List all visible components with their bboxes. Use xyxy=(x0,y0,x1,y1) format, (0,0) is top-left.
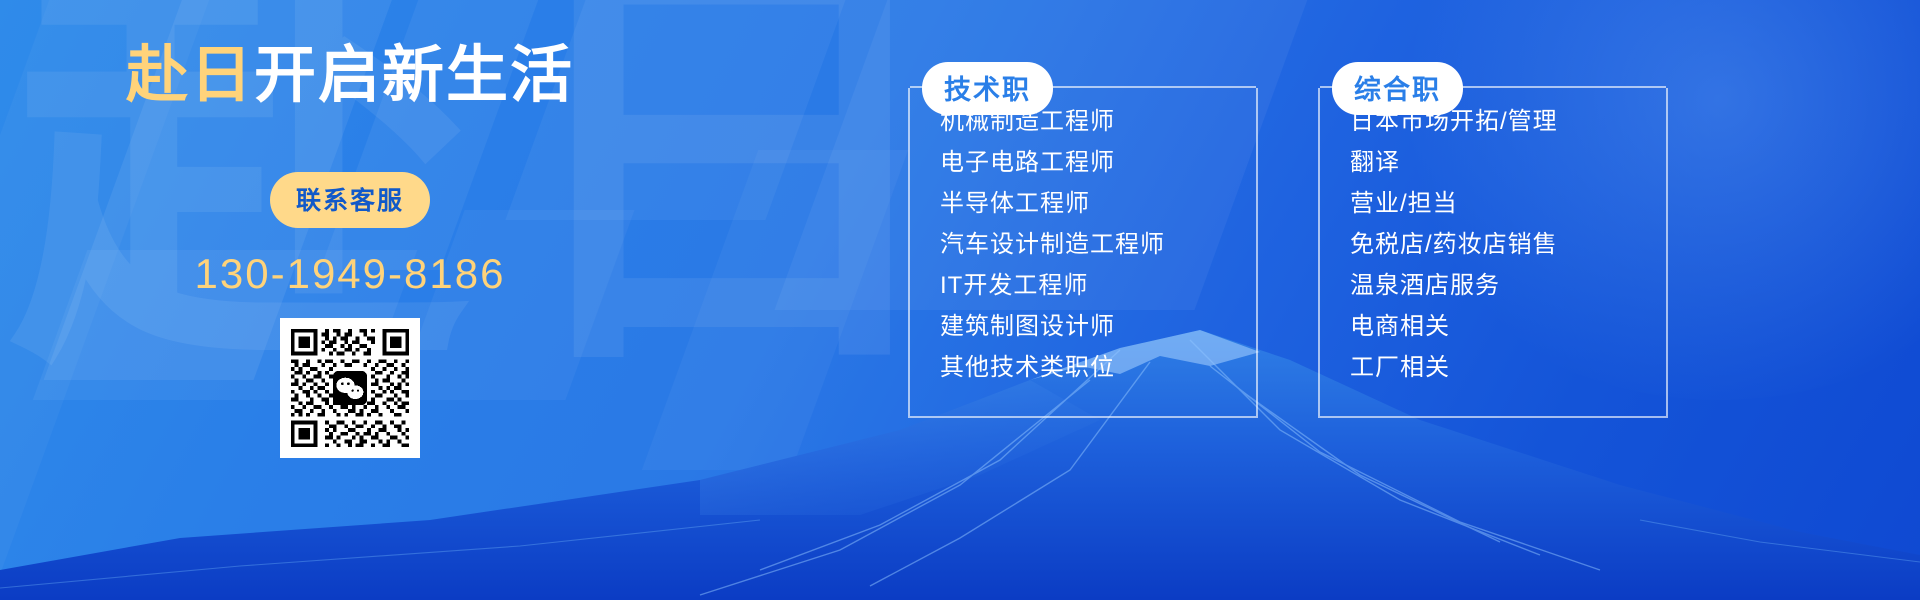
list-item[interactable]: 营业/担当 xyxy=(1350,192,1666,233)
list-item[interactable]: 半导体工程师 xyxy=(940,192,1256,233)
list-item[interactable]: 温泉酒店服务 xyxy=(1350,274,1666,315)
contact-support-button[interactable]: 联系客服 xyxy=(270,172,430,228)
job-list-general: 日本市场开拓/管理 翻译 营业/担当 免税店/药妆店销售 温泉酒店服务 电商相关… xyxy=(1320,88,1666,397)
list-item[interactable]: 其他技术类职位 xyxy=(940,356,1256,397)
list-item[interactable]: 机械制造工程师 xyxy=(940,110,1256,151)
qr-code-graphic xyxy=(287,325,413,451)
job-category-panel-general: 综合职 日本市场开拓/管理 翻译 营业/担当 免税店/药妆店销售 温泉酒店服务 … xyxy=(1318,88,1668,418)
list-item[interactable]: 电子电路工程师 xyxy=(940,151,1256,192)
list-item[interactable]: 建筑制图设计师 xyxy=(940,315,1256,356)
headline-main: 开启新生活 xyxy=(254,41,574,110)
list-item[interactable]: IT开发工程师 xyxy=(940,274,1256,315)
category-title-general: 综合职 xyxy=(1332,62,1463,115)
job-category-panel-technical: 技术职 机械制造工程师 电子电路工程师 半导体工程师 汽车设计制造工程师 IT开… xyxy=(908,88,1258,418)
list-item[interactable]: 免税店/药妆店销售 xyxy=(1350,233,1666,274)
list-item[interactable]: 翻译 xyxy=(1350,151,1666,192)
headline-accent: 赴日 xyxy=(126,41,254,110)
phone-number[interactable]: 130-1949-8186 xyxy=(0,250,700,298)
job-list-technical: 机械制造工程师 电子电路工程师 半导体工程师 汽车设计制造工程师 IT开发工程师… xyxy=(910,88,1256,397)
list-item[interactable]: 电商相关 xyxy=(1350,315,1666,356)
list-item[interactable]: 汽车设计制造工程师 xyxy=(940,233,1256,274)
category-title-technical: 技术职 xyxy=(922,62,1053,115)
promo-banner: 赴日 xyxy=(0,0,1920,600)
wechat-qr-code-icon[interactable] xyxy=(280,318,420,458)
list-item[interactable]: 日本市场开拓/管理 xyxy=(1350,110,1666,151)
list-item[interactable]: 工厂相关 xyxy=(1350,356,1666,397)
page-title: 赴日开启新生活 xyxy=(0,42,700,110)
promo-left-column: 赴日开启新生活 联系客服 130-1949-8186 xyxy=(0,0,700,600)
